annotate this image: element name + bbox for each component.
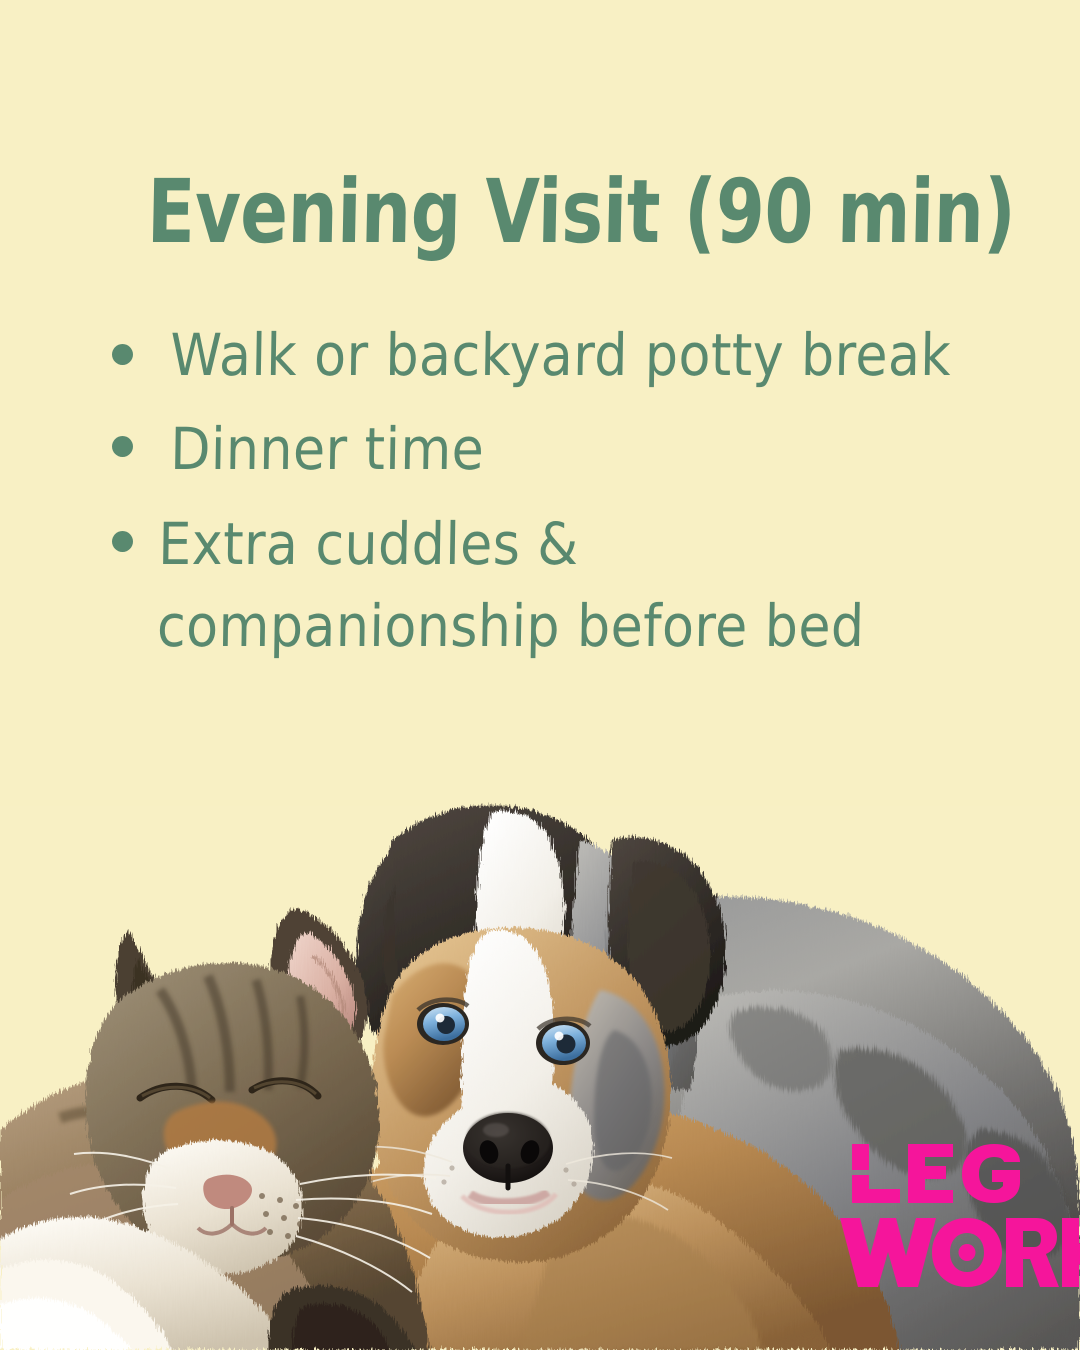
list-item-label: Dinner time [170,408,485,490]
list-item: Walk or backyard potty break [112,314,1042,396]
service-list: Walk or backyard potty break Dinner time… [112,314,1042,679]
list-item: Dinner time [112,408,1042,490]
list-item: Extra cuddles & companionship before bed [112,503,1042,668]
poster-canvas: Evening Visit (90 min) Walk or backyard … [0,0,1080,1350]
bullet-dot-icon [112,344,133,365]
list-item-label: Walk or backyard potty break [170,314,952,396]
list-item-label: Extra cuddles & companionship before bed [156,503,953,668]
legwork-logo[interactable] [846,1142,1046,1302]
bullet-dot-icon [112,436,133,457]
bullet-dot-icon [112,531,133,552]
page-title: Evening Visit (90 min) [146,168,836,256]
